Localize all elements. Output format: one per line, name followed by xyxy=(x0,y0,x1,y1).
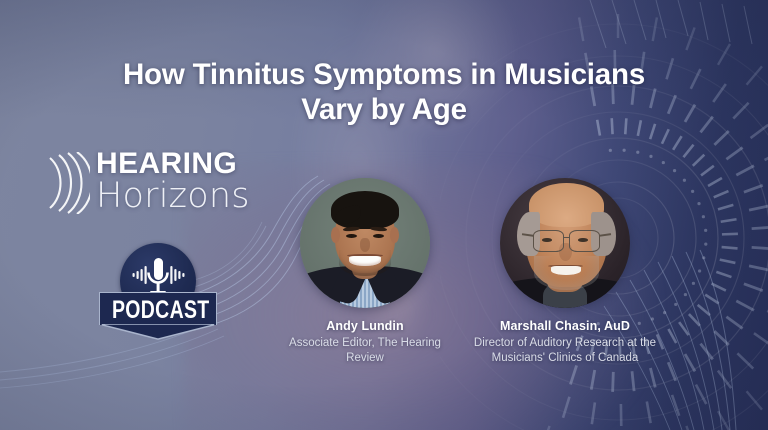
hearing-horizons-logo: HEARING Horizons xyxy=(44,146,262,226)
podcast-label: PODCAST xyxy=(112,296,204,325)
guest-name: Marshall Chasin, AuD xyxy=(435,319,695,333)
guest-card-2: Marshall Chasin, AuD Director of Auditor… xyxy=(435,178,695,366)
avatar xyxy=(300,178,430,308)
sound-wave-arcs-icon xyxy=(44,152,90,214)
logo-word-horizons: Horizons xyxy=(96,176,250,216)
podcast-ribbon-point xyxy=(99,324,217,340)
page-title: How Tinnitus Symptoms in Musicians Vary … xyxy=(0,57,768,127)
avatar xyxy=(500,178,630,308)
podcast-title-card: How Tinnitus Symptoms in Musicians Vary … xyxy=(0,0,768,430)
guest-role: Director of Auditory Research at the Mus… xyxy=(435,336,695,366)
podcast-badge: PODCAST xyxy=(99,243,217,339)
